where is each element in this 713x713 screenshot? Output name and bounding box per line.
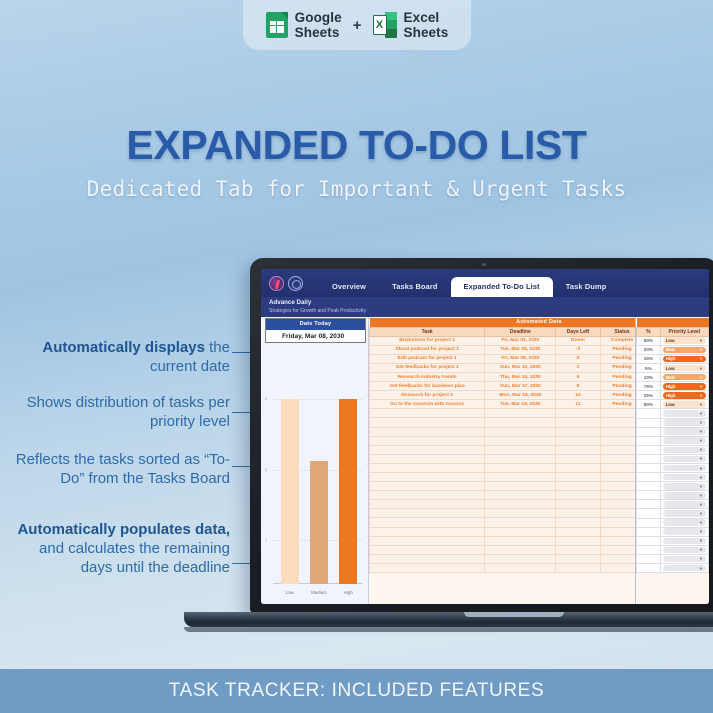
- annotation-4-rest: and calculates the remaining days until …: [39, 540, 230, 576]
- priority-value: [666, 556, 667, 561]
- priority-row-empty[interactable]: ▼: [637, 473, 709, 482]
- priority-value: [666, 502, 667, 507]
- priority-dropdown[interactable]: ▼: [663, 483, 706, 490]
- priority-row[interactable]: 5%Low▼: [637, 363, 709, 372]
- priority-dropdown[interactable]: Low▼: [663, 365, 706, 372]
- priority-value: [666, 538, 667, 543]
- priority-row[interactable]: 50%Low▼: [637, 400, 709, 409]
- priority-table: % Priority Level 50%Low▼20%Med▼15%High▼5…: [636, 318, 709, 573]
- laptop-base-shadow: [184, 627, 713, 632]
- chevron-down-icon: ▼: [699, 347, 703, 352]
- priority-dropdown[interactable]: High▼: [663, 383, 706, 390]
- cell-percent-empty: [637, 482, 661, 491]
- annotation-distribution: Shows distribution of tasks per priority…: [15, 393, 230, 431]
- brand-subtitle: Strategies for Growth and Peak Productiv…: [269, 307, 709, 315]
- cell-priority-empty[interactable]: ▼: [660, 454, 708, 463]
- cell-percent-empty: [637, 445, 661, 454]
- cell-empty: [485, 518, 556, 527]
- cell-percent-empty: [637, 473, 661, 482]
- cell-empty: [370, 454, 485, 463]
- priority-dropdown[interactable]: ▼: [663, 538, 706, 545]
- annotation-3-rest: Reflects the tasks sorted as “To-Do” fro…: [16, 451, 230, 487]
- page-subtitle: Dedicated Tab for Important & Urgent Tas…: [0, 177, 713, 201]
- priority-dropdown[interactable]: ▼: [663, 519, 706, 526]
- software-compatibility-badge: Google Sheets + X Excel Sheets: [243, 0, 471, 50]
- cell-deadline: Thu, Mar 14, 2030: [485, 372, 556, 381]
- cell-empty: [370, 427, 485, 436]
- xl-line1: Excel: [404, 10, 440, 25]
- priority-dropdown[interactable]: ▼: [663, 528, 706, 535]
- priority-row-empty[interactable]: ▼: [637, 409, 709, 418]
- cell-priority-empty[interactable]: ▼: [660, 436, 708, 445]
- chevron-down-icon: ▼: [699, 402, 703, 407]
- cell-days-left: Done!: [556, 336, 600, 345]
- cell-percent: 5%: [637, 363, 661, 372]
- priority-value: High: [666, 384, 676, 389]
- chevron-down-icon: ▼: [699, 356, 703, 361]
- priority-dropdown[interactable]: ▼: [663, 437, 706, 444]
- tab-task-dump[interactable]: Task Dump: [553, 278, 620, 297]
- cell-deadline: Sun, Mar 17, 2030: [485, 382, 556, 391]
- chevron-down-icon: ▼: [699, 338, 703, 343]
- cell-empty: [556, 491, 600, 500]
- cell-deadline: Fri, Mar 08, 2030: [485, 354, 556, 363]
- cell-empty: [556, 436, 600, 445]
- annotation-2-rest: Shows distribution of tasks per priority…: [27, 394, 230, 430]
- cell-empty: [556, 427, 600, 436]
- priority-value: [666, 466, 667, 471]
- chevron-down-icon: ▼: [699, 511, 703, 516]
- app-navbar: Overview Tasks Board Expanded To-Do List…: [261, 269, 709, 297]
- cell-percent-empty: [637, 564, 661, 573]
- priority-dropdown[interactable]: High▼: [663, 356, 706, 363]
- priority-row[interactable]: 20%Med▼: [637, 345, 709, 354]
- cell-empty: [556, 518, 600, 527]
- cell-empty: [370, 463, 485, 472]
- priority-dropdown[interactable]: Med▼: [663, 347, 706, 354]
- cell-empty: [485, 409, 556, 418]
- priority-dropdown[interactable]: ▼: [663, 465, 706, 472]
- priority-value: Low: [666, 338, 675, 343]
- priority-row-empty[interactable]: ▼: [637, 445, 709, 454]
- cell-empty: [556, 545, 600, 554]
- cell-days-left: 11: [556, 400, 600, 409]
- bar-low: Low: [281, 347, 299, 584]
- cell-priority-empty[interactable]: ▼: [660, 536, 708, 545]
- cell-empty: [370, 436, 485, 445]
- cell-percent-empty: [637, 500, 661, 509]
- tab-tasks-board[interactable]: Tasks Board: [379, 278, 450, 297]
- cell-empty: [370, 518, 485, 527]
- col-days-left: Days Left: [556, 327, 600, 336]
- cell-empty: [485, 527, 556, 536]
- cell-priority-empty[interactable]: ▼: [660, 427, 708, 436]
- col-percent: %: [637, 327, 661, 336]
- cell-empty: [485, 427, 556, 436]
- bar-high: High: [339, 347, 357, 584]
- cell-deadline: Mon, Mar 18, 2030: [485, 391, 556, 400]
- cell-priority-empty[interactable]: ▼: [660, 545, 708, 554]
- cell-priority-empty[interactable]: ▼: [660, 491, 708, 500]
- priority-band-row: [637, 318, 709, 327]
- priority-dropdown[interactable]: ▼: [663, 510, 706, 517]
- chevron-down-icon: ▼: [699, 529, 703, 534]
- priority-dropdown[interactable]: ▼: [663, 410, 706, 417]
- chevron-down-icon: ▼: [699, 456, 703, 461]
- bar-label: Low: [275, 590, 305, 595]
- priority-value: [666, 566, 667, 571]
- priority-value: Med: [666, 375, 675, 380]
- google-sheets-label: Google Sheets: [295, 10, 342, 40]
- app-subbar: Advance Daily Strategies for Growth and …: [261, 297, 709, 317]
- cell-percent-empty: [637, 545, 661, 554]
- priority-value: [666, 447, 667, 452]
- cell-priority[interactable]: High▼: [660, 354, 708, 363]
- cell-priority-empty[interactable]: ▼: [660, 482, 708, 491]
- cell-percent-empty: [637, 418, 661, 427]
- cell-empty: [370, 418, 485, 427]
- cell-empty: [556, 409, 600, 418]
- cell-priority-empty[interactable]: ▼: [660, 409, 708, 418]
- chevron-down-icon: ▼: [699, 384, 703, 389]
- priority-value: High: [666, 393, 676, 398]
- excel-icon: X: [373, 12, 397, 38]
- cell-percent-empty: [637, 536, 661, 545]
- priority-header-row: % Priority Level: [637, 327, 709, 336]
- priority-value: Med: [666, 347, 675, 352]
- excel-label: Excel Sheets: [404, 10, 449, 40]
- left-pane: Date Today Friday, Mar 08, 2030 3 2 1: [261, 317, 369, 604]
- chevron-down-icon: ▼: [699, 520, 703, 525]
- cell-task: Shoot podcast for project 1: [370, 345, 485, 354]
- cell-empty: [556, 463, 600, 472]
- chevron-down-icon: ▼: [699, 547, 703, 552]
- cell-percent-empty: [637, 527, 661, 536]
- cell-days-left: 10: [556, 391, 600, 400]
- priority-row-empty[interactable]: ▼: [637, 418, 709, 427]
- priority-dropdown[interactable]: ▼: [663, 428, 706, 435]
- cell-days-left: 2: [556, 363, 600, 372]
- cell-empty: [485, 436, 556, 445]
- cell-days-left: 6: [556, 372, 600, 381]
- laptop-screen: Overview Tasks Board Expanded To-Do List…: [261, 269, 709, 604]
- priority-dropdown[interactable]: ▼: [663, 556, 706, 563]
- priority-row-empty[interactable]: ▼: [637, 491, 709, 500]
- cell-days-left: -3: [556, 345, 600, 354]
- priority-dropdown[interactable]: ▼: [663, 456, 706, 463]
- cell-task: Research industry trends: [370, 372, 485, 381]
- google-sheets-badge: Google Sheets: [266, 10, 342, 40]
- cell-empty: [556, 482, 600, 491]
- cell-priority[interactable]: Low▼: [660, 400, 708, 409]
- cell-empty: [370, 509, 485, 518]
- cell-empty: [370, 536, 485, 545]
- priority-value: Low: [666, 366, 675, 371]
- cell-task: Brainstorm for project 1: [370, 336, 485, 345]
- annotation-1-strong: Automatically displays: [42, 339, 205, 356]
- cell-priority-empty[interactable]: ▼: [660, 418, 708, 427]
- cell-empty: [370, 527, 485, 536]
- laptop-base: [184, 612, 713, 627]
- priority-value: [666, 438, 667, 443]
- cell-empty: [370, 445, 485, 454]
- priority-dropdown[interactable]: Med▼: [663, 374, 706, 381]
- chevron-down-icon: ▼: [699, 411, 703, 416]
- cell-percent-empty: [637, 464, 661, 473]
- cell-empty: [370, 482, 485, 491]
- priority-row[interactable]: 15%High▼: [637, 354, 709, 363]
- priority-row-empty[interactable]: ▼: [637, 545, 709, 554]
- cell-priority[interactable]: High▼: [660, 382, 708, 391]
- cell-task: Get feedbacks for business plan: [370, 382, 485, 391]
- cell-percent: 50%: [637, 336, 661, 345]
- google-sheets-icon: [266, 12, 288, 38]
- priority-dropdown[interactable]: ▼: [663, 501, 706, 508]
- bar-rect: [281, 399, 299, 584]
- cell-priority[interactable]: Med▼: [660, 345, 708, 354]
- chevron-down-icon: ▼: [699, 466, 703, 471]
- cell-empty: [485, 418, 556, 427]
- col-deadline: Deadline: [485, 327, 556, 336]
- priority-row-empty[interactable]: ▼: [637, 427, 709, 436]
- workspace: Date Today Friday, Mar 08, 2030 3 2 1: [261, 317, 709, 604]
- cell-percent-empty: [637, 454, 661, 463]
- plus-separator: +: [353, 17, 362, 34]
- priority-row[interactable]: 75%High▼: [637, 382, 709, 391]
- cell-priority[interactable]: Low▼: [660, 336, 708, 345]
- nav-tabs: Overview Tasks Board Expanded To-Do List…: [319, 277, 619, 297]
- cell-deadline: Sun, Mar 10, 2030: [485, 363, 556, 372]
- cell-percent-empty: [637, 409, 661, 418]
- col-task: Task: [370, 327, 485, 336]
- annotation-current-date: Automatically displays the current date: [15, 338, 230, 376]
- cell-empty: [556, 454, 600, 463]
- y-tick-3: 3: [265, 396, 267, 401]
- priority-dropdown[interactable]: Low▼: [663, 337, 706, 344]
- chevron-down-icon: ▼: [699, 502, 703, 507]
- priority-dropdown[interactable]: ▼: [663, 565, 706, 572]
- cell-percent-empty: [637, 436, 661, 445]
- cell-priority[interactable]: Low▼: [660, 363, 708, 372]
- cell-priority-empty[interactable]: ▼: [660, 564, 708, 573]
- tab-expanded-todo-list[interactable]: Expanded To-Do List: [451, 277, 553, 297]
- cell-percent-empty: [637, 518, 661, 527]
- cell-priority-empty[interactable]: ▼: [660, 500, 708, 509]
- cell-percent: 10%: [637, 373, 661, 382]
- chevron-down-icon: ▼: [699, 566, 703, 571]
- chevron-down-icon: ▼: [699, 393, 703, 398]
- bar-rect: [310, 461, 328, 584]
- cell-empty: [370, 563, 485, 572]
- cell-deadline: Fri, Mar 01, 2030: [485, 336, 556, 345]
- cell-days-left: 0: [556, 354, 600, 363]
- date-today-value: Friday, Mar 08, 2030: [266, 330, 365, 343]
- priority-row[interactable]: 50%Low▼: [637, 336, 709, 345]
- cell-empty: [556, 563, 600, 572]
- cell-priority-empty[interactable]: ▼: [660, 509, 708, 518]
- cell-empty: [556, 473, 600, 482]
- y-tick-2: 2: [265, 467, 267, 472]
- chart-bars: Low Medium High: [275, 347, 363, 584]
- chevron-down-icon: ▼: [699, 366, 703, 371]
- cell-empty: [370, 545, 485, 554]
- cell-empty: [485, 491, 556, 500]
- page-title: EXPANDED TO-DO LIST: [0, 122, 713, 169]
- cell-empty: [485, 445, 556, 454]
- cell-empty: [485, 454, 556, 463]
- bar-label: Medium: [304, 590, 334, 595]
- chevron-down-icon: ▼: [699, 475, 703, 480]
- chevron-down-icon: ▼: [699, 538, 703, 543]
- chevron-down-icon: ▼: [699, 420, 703, 425]
- cell-priority-empty[interactable]: ▼: [660, 518, 708, 527]
- target-icon: [288, 276, 303, 291]
- cell-empty: [556, 527, 600, 536]
- priority-value: High: [666, 356, 676, 361]
- priority-dropdown[interactable]: ▼: [663, 474, 706, 481]
- bar-rect: [339, 399, 357, 584]
- cell-empty: [485, 463, 556, 472]
- cell-percent: 25%: [637, 391, 661, 400]
- chevron-down-icon: ▼: [699, 438, 703, 443]
- tab-overview[interactable]: Overview: [319, 278, 379, 297]
- cell-task: Edit podcast for project 1: [370, 354, 485, 363]
- y-tick-1: 1: [265, 537, 267, 542]
- footer-label: TASK TRACKER: INCLUDED FEATURES: [169, 680, 544, 702]
- priority-dropdown[interactable]: High▼: [663, 392, 706, 399]
- chevron-down-icon: ▼: [699, 556, 703, 561]
- gs-line2: Sheets: [295, 25, 340, 40]
- footer-bar: TASK TRACKER: INCLUDED FEATURES: [0, 669, 713, 713]
- cell-percent: 20%: [637, 345, 661, 354]
- priority-row-empty[interactable]: ▼: [637, 454, 709, 463]
- priority-value: [666, 511, 667, 516]
- cell-days-left: 9: [556, 382, 600, 391]
- priority-row-empty[interactable]: ▼: [637, 464, 709, 473]
- cell-empty: [485, 509, 556, 518]
- chevron-down-icon: ▼: [699, 429, 703, 434]
- cell-priority-empty[interactable]: ▼: [660, 445, 708, 454]
- cell-empty: [485, 545, 556, 554]
- priority-distribution-chart: 3 2 1 Low Medium: [265, 343, 365, 596]
- excel-badge: X Excel Sheets: [373, 10, 449, 40]
- priority-row-empty[interactable]: ▼: [637, 518, 709, 527]
- cell-percent: 15%: [637, 354, 661, 363]
- cell-percent-empty: [637, 554, 661, 563]
- priority-row-empty[interactable]: ▼: [637, 554, 709, 563]
- annotation-4-strong: Automatically populates data,: [17, 521, 230, 538]
- priority-row-empty[interactable]: ▼: [637, 436, 709, 445]
- cell-priority[interactable]: Med▼: [660, 373, 708, 382]
- cell-empty: [485, 473, 556, 482]
- bar-label: High: [333, 590, 363, 595]
- bar-medium: Medium: [310, 347, 328, 584]
- webcam-icon: [482, 263, 487, 266]
- brand-title: Advance Daily: [269, 299, 709, 307]
- priority-value: [666, 493, 667, 498]
- cell-percent-empty: [637, 509, 661, 518]
- cell-priority-empty[interactable]: ▼: [660, 473, 708, 482]
- cell-empty: [485, 563, 556, 572]
- chevron-down-icon: ▼: [699, 375, 703, 380]
- priority-value: [666, 520, 667, 525]
- cell-priority[interactable]: High▼: [660, 391, 708, 400]
- priority-row-empty[interactable]: ▼: [637, 500, 709, 509]
- cell-empty: [556, 418, 600, 427]
- cell-empty: [556, 554, 600, 563]
- priority-row-empty[interactable]: ▼: [637, 536, 709, 545]
- cell-percent-empty: [637, 427, 661, 436]
- priority-dropdown[interactable]: ▼: [663, 547, 706, 554]
- priority-row[interactable]: 10%Med▼: [637, 373, 709, 382]
- cell-empty: [370, 409, 485, 418]
- annotation-todo-sort: Reflects the tasks sorted as “To-Do” fro…: [15, 450, 230, 488]
- priority-value: [666, 475, 667, 480]
- cell-empty: [485, 500, 556, 509]
- priority-row-empty[interactable]: ▼: [637, 482, 709, 491]
- cell-percent-empty: [637, 491, 661, 500]
- priority-value: [666, 411, 667, 416]
- date-today-header: Date Today: [266, 319, 365, 330]
- cell-deadline: Tue, Mar 19, 2030: [485, 400, 556, 409]
- priority-table-inner: % Priority Level 50%Low▼20%Med▼15%High▼5…: [636, 318, 709, 573]
- chevron-down-icon: ▼: [699, 447, 703, 452]
- priority-row[interactable]: 25%High▼: [637, 391, 709, 400]
- priority-value: [666, 429, 667, 434]
- cell-task: Get feedbacks for project 1: [370, 363, 485, 372]
- priority-value: Low: [666, 402, 675, 407]
- brand-logo-icon: [269, 276, 284, 291]
- cell-empty: [556, 500, 600, 509]
- cell-empty: [370, 491, 485, 500]
- cell-priority-empty[interactable]: ▼: [660, 527, 708, 536]
- gs-line1: Google: [295, 10, 342, 25]
- cell-priority-empty[interactable]: ▼: [660, 464, 708, 473]
- col-priority-level: Priority Level: [660, 327, 708, 336]
- cell-empty: [485, 482, 556, 491]
- cell-empty: [556, 509, 600, 518]
- priority-value: [666, 529, 667, 534]
- cell-empty: [485, 554, 556, 563]
- laptop-mockup: Overview Tasks Board Expanded To-Do List…: [250, 258, 713, 623]
- laptop-lid: Overview Tasks Board Expanded To-Do List…: [250, 258, 713, 613]
- priority-row-empty[interactable]: ▼: [637, 527, 709, 536]
- priority-dropdown[interactable]: ▼: [663, 447, 706, 454]
- cell-task: Go to the museum with cousins: [370, 400, 485, 409]
- priority-row-empty[interactable]: ▼: [637, 509, 709, 518]
- priority-dropdown[interactable]: Low▼: [663, 401, 706, 408]
- chevron-down-icon: ▼: [699, 484, 703, 489]
- cell-deadline: Tue, Mar 05, 2030: [485, 345, 556, 354]
- chevron-down-icon: ▼: [699, 493, 703, 498]
- cell-priority-empty[interactable]: ▼: [660, 554, 708, 563]
- cell-empty: [556, 536, 600, 545]
- cell-percent: 50%: [637, 400, 661, 409]
- priority-value: [666, 420, 667, 425]
- priority-dropdown[interactable]: ▼: [663, 492, 706, 499]
- priority-value: [666, 484, 667, 489]
- date-today-card: Date Today Friday, Mar 08, 2030: [265, 318, 366, 343]
- xl-line2: Sheets: [404, 25, 449, 40]
- annotation-auto-populate: Automatically populates data, and calcul…: [15, 520, 230, 578]
- priority-value: [666, 456, 667, 461]
- priority-dropdown[interactable]: ▼: [663, 419, 706, 426]
- cell-empty: [370, 500, 485, 509]
- cell-task: Research for project 2: [370, 391, 485, 400]
- app-logos: [269, 276, 303, 297]
- priority-row-empty[interactable]: ▼: [637, 564, 709, 573]
- cell-empty: [370, 554, 485, 563]
